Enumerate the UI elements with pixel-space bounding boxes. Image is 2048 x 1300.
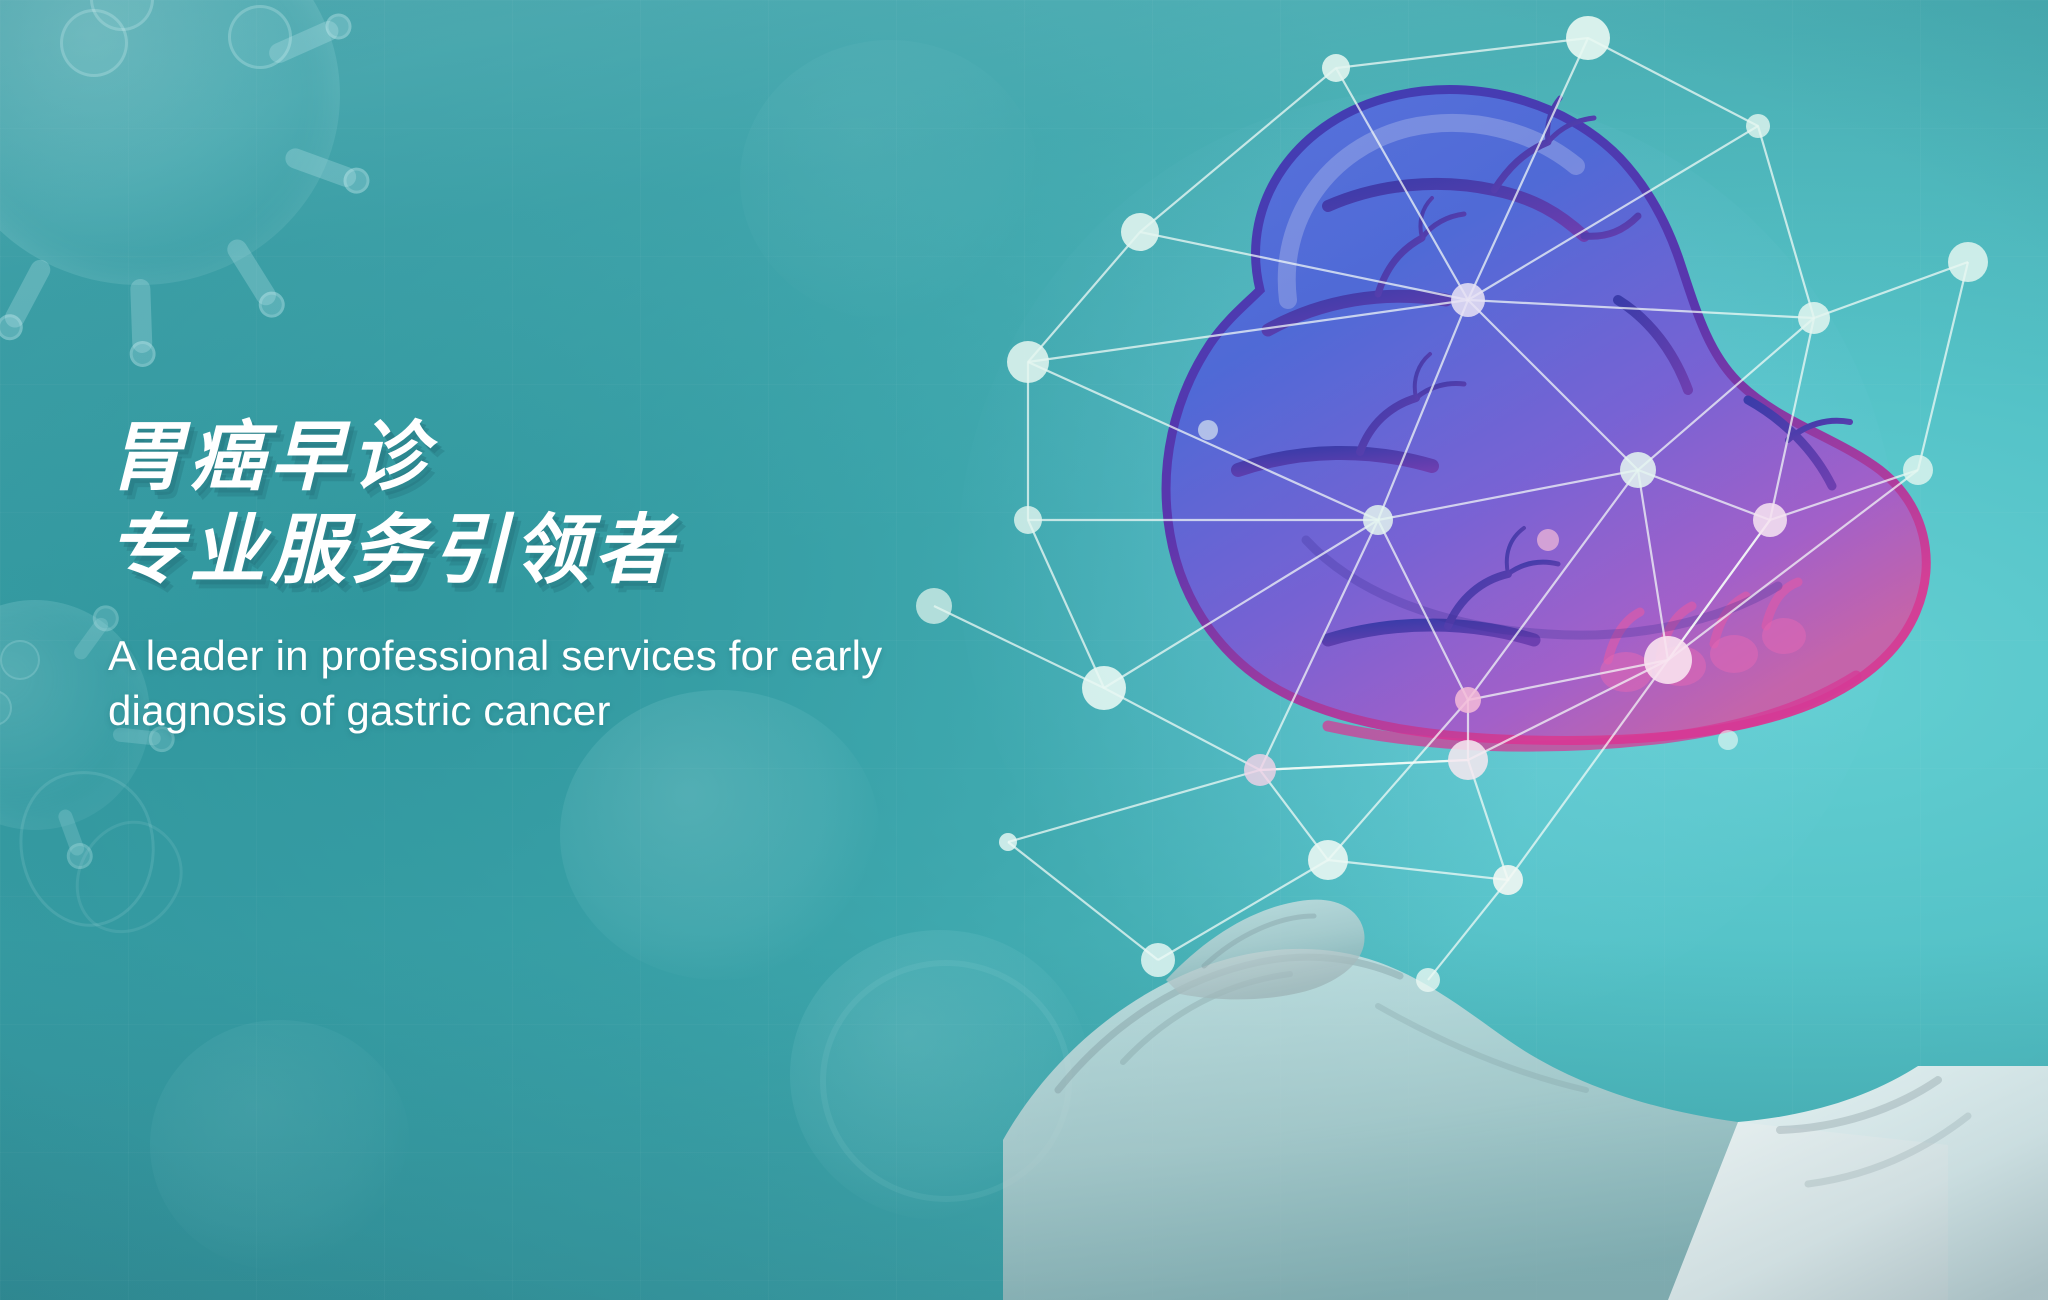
lab-coat-sleeve	[1668, 1066, 2048, 1300]
subheadline-line-1: A leader in professional services for ea…	[108, 629, 898, 684]
headline-line-1: 胃癌早诊	[108, 415, 1108, 500]
headline-line-2: 专业服务引领者	[108, 508, 1108, 593]
banner-hero: 胃癌早诊 专业服务引领者 A leader in professional se…	[0, 0, 2048, 1300]
subheadline-line-2: diagnosis of gastric cancer	[108, 684, 898, 739]
subheadline: A leader in professional services for ea…	[108, 629, 898, 738]
hero-copy: 胃癌早诊 专业服务引领者 A leader in professional se…	[108, 415, 1108, 738]
